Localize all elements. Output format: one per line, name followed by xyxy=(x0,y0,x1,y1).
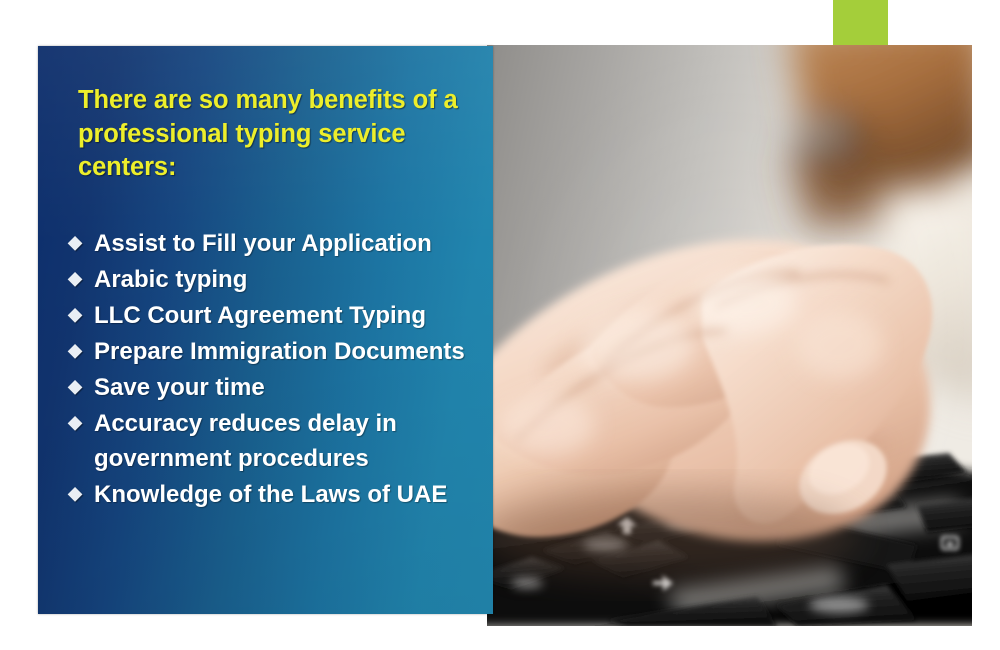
page-title: There are so many benefits of a professi… xyxy=(78,84,468,185)
list-item-label: Prepare Immigration Documents xyxy=(94,334,484,369)
list-item: ◆ Knowledge of the Laws of UAE xyxy=(64,477,484,512)
diamond-bullet-icon: ◆ xyxy=(64,226,86,255)
slide-canvas: There are so many benefits of a professi… xyxy=(0,0,1000,650)
diamond-bullet-icon: ◆ xyxy=(64,262,86,291)
list-item-label: LLC Court Agreement Typing xyxy=(94,298,484,333)
list-item-label: Accuracy reduces delay in government pro… xyxy=(94,406,484,476)
list-item-label: Save your time xyxy=(94,370,484,405)
list-item-label: Assist to Fill your Application xyxy=(94,226,484,261)
list-item: ◆ Assist to Fill your Application xyxy=(64,226,484,261)
list-item: ◆ Accuracy reduces delay in government p… xyxy=(64,406,484,476)
benefits-list: ◆ Assist to Fill your Application ◆ Arab… xyxy=(64,226,484,513)
diamond-bullet-icon: ◆ xyxy=(64,298,86,327)
diamond-bullet-icon: ◆ xyxy=(64,334,86,363)
list-item: ◆ Save your time xyxy=(64,370,484,405)
diamond-bullet-icon: ◆ xyxy=(64,477,86,506)
hands-typing-on-keyboard-photo xyxy=(487,45,972,626)
list-item: ◆ LLC Court Agreement Typing xyxy=(64,298,484,333)
list-item: ◆ Arabic typing xyxy=(64,262,484,297)
diamond-bullet-icon: ◆ xyxy=(64,406,86,435)
list-item-label: Knowledge of the Laws of UAE xyxy=(94,477,484,512)
blue-content-panel: There are so many benefits of a professi… xyxy=(38,46,493,614)
list-item-label: Arabic typing xyxy=(94,262,484,297)
green-accent-bar xyxy=(833,0,888,45)
list-item: ◆ Prepare Immigration Documents xyxy=(64,334,484,369)
diamond-bullet-icon: ◆ xyxy=(64,370,86,399)
